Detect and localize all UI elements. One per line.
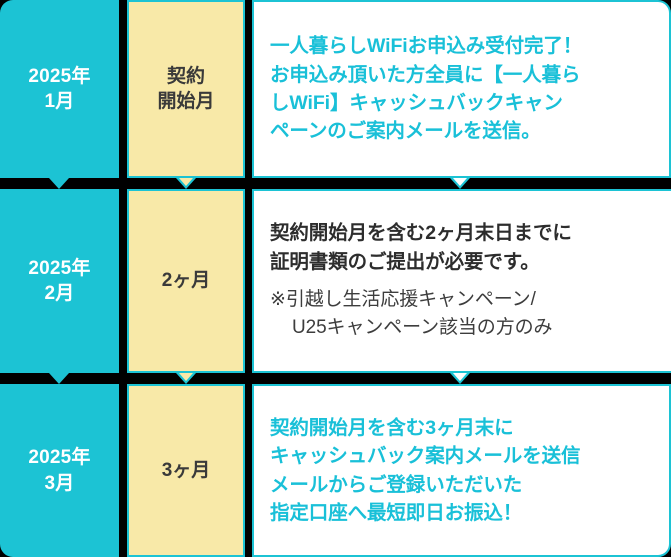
month-label-line1: 2025年 bbox=[28, 445, 90, 470]
duration-cell: 3ヶ月 bbox=[127, 384, 245, 557]
month-label-line2: 2月 bbox=[45, 281, 75, 306]
content-line: 指定口座へ最短即日お振込！ bbox=[270, 502, 522, 524]
month-cell: 2025年 3月 bbox=[0, 384, 119, 557]
chevron-down-icon bbox=[450, 373, 470, 384]
content-cell: 契約開始月を含む2ヶ月末日までに 証明書類のご提出が必要です。 ※引越し生活応援… bbox=[252, 189, 671, 373]
chevron-down-icon bbox=[49, 373, 69, 384]
content-line: ※引越し生活応援キャンペーン/ bbox=[270, 289, 536, 310]
content-paragraph: 契約開始月を含む2ヶ月末日までに 証明書類のご提出が必要です。 bbox=[270, 219, 657, 276]
month-cell: 2025年 1月 bbox=[0, 0, 119, 178]
duration-label-line2: 開始月 bbox=[157, 89, 214, 114]
duration-cell: 2ヶ月 bbox=[127, 189, 245, 373]
content-note: ※引越し生活応援キャンペーン/ U25キャンペーン該当の方のみ bbox=[270, 286, 657, 343]
month-label-line1: 2025年 bbox=[28, 64, 90, 89]
month-label-line2: 3月 bbox=[45, 471, 75, 496]
duration-label-line1: 契約 bbox=[167, 64, 205, 89]
month-cell: 2025年 2月 bbox=[0, 189, 119, 373]
schedule-row: 2025年 2月 2ヶ月 契約開始月を含む2ヶ月末日までに 証明書類のご提出が必… bbox=[0, 189, 671, 373]
schedule-row: 2025年 1月 契約 開始月 一人暮らしWiFiお申込み受付完了！ お申込み頂… bbox=[0, 0, 671, 178]
content-cell: 一人暮らしWiFiお申込み受付完了！ お申込み頂いた方全員に【一人暮ら しWiF… bbox=[252, 0, 671, 178]
content-paragraph: 契約開始月を含む3ヶ月末に キャッシュバック案内メールを送信 メールからご登録い… bbox=[270, 414, 655, 528]
duration-label-line1: 2ヶ月 bbox=[162, 268, 211, 293]
content-cell: 契約開始月を含む3ヶ月末に キャッシュバック案内メールを送信 メールからご登録い… bbox=[252, 384, 671, 557]
content-line: 一人暮らしWiFiお申込み受付完了！ bbox=[270, 35, 582, 57]
duration-cell: 契約 開始月 bbox=[127, 0, 245, 178]
schedule-row: 2025年 3月 3ヶ月 契約開始月を含む3ヶ月末に キャッシュバック案内メール… bbox=[0, 384, 671, 557]
cashback-schedule-table: 2025年 1月 契約 開始月 一人暮らしWiFiお申込み受付完了！ お申込み頂… bbox=[0, 0, 671, 557]
content-line: しWiFi】キャッシュバックキャン bbox=[270, 92, 563, 114]
month-label-line2: 1月 bbox=[45, 89, 75, 114]
content-line: お申込み頂いた方全員に【一人暮ら bbox=[270, 64, 580, 86]
duration-label-line1: 3ヶ月 bbox=[162, 458, 211, 483]
content-line: メールからご登録いただいた bbox=[270, 474, 522, 496]
chevron-down-icon bbox=[450, 178, 470, 189]
chevron-down-icon bbox=[176, 373, 196, 384]
content-line: 契約開始月を含む2ヶ月末日までに bbox=[270, 222, 572, 244]
content-line: 証明書類のご提出が必要です。 bbox=[270, 251, 540, 273]
content-paragraph: 一人暮らしWiFiお申込み受付完了！ お申込み頂いた方全員に【一人暮ら しWiF… bbox=[270, 32, 655, 146]
content-line: U25キャンペーン該当の方のみ bbox=[270, 314, 552, 343]
content-line: キャッシュバック案内メールを送信 bbox=[270, 445, 580, 467]
content-line: 契約開始月を含む3ヶ月末に bbox=[270, 417, 514, 439]
month-label-line1: 2025年 bbox=[28, 256, 90, 281]
content-line: ペーンのご案内メールを送信。 bbox=[270, 120, 541, 142]
chevron-down-icon bbox=[49, 178, 69, 189]
chevron-down-icon bbox=[176, 178, 196, 189]
